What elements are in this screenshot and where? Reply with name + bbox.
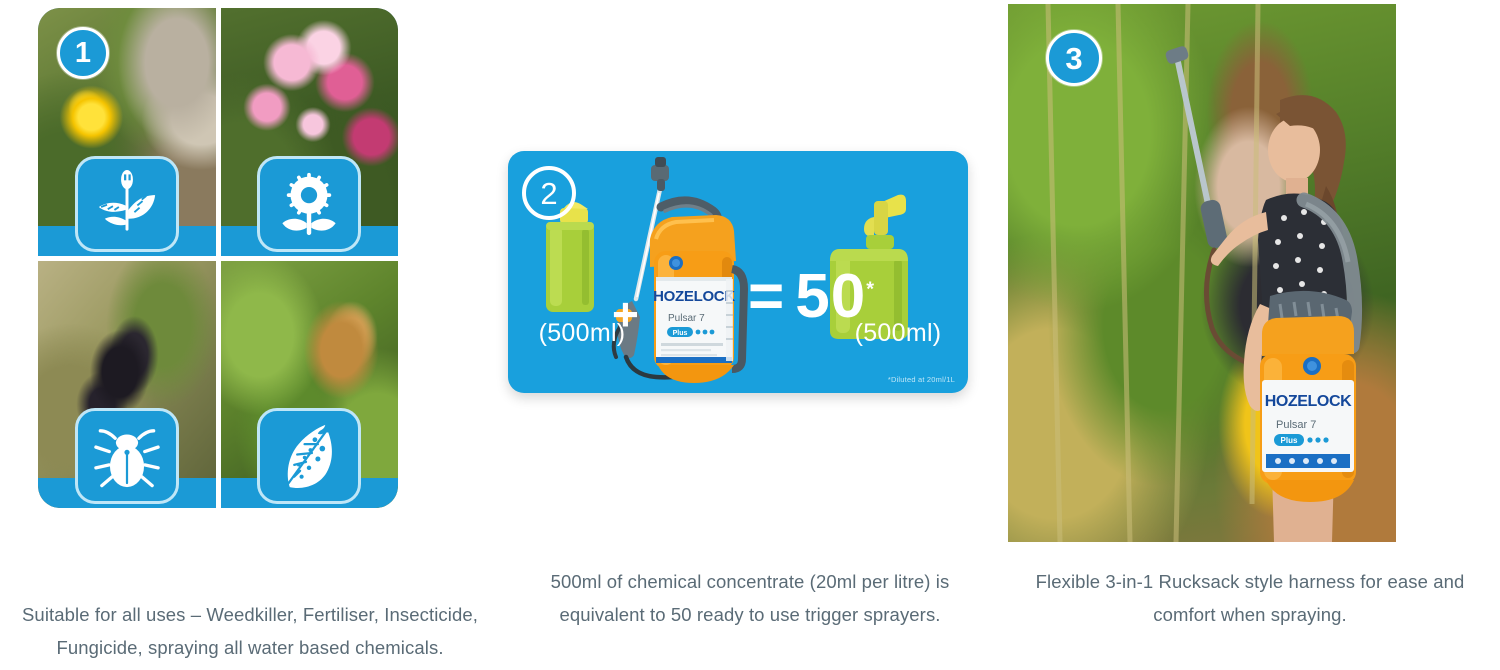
beetle-icon-badge	[75, 408, 179, 504]
product-feature-board: 1 Suitable for all uses – Weedkiller, Fe…	[0, 0, 1500, 670]
leaf-icon-badge	[257, 408, 361, 504]
caption-panel-1: Suitable for all uses – Weedkiller, Fert…	[0, 598, 500, 664]
step-number-badge-3: 3	[1046, 30, 1102, 86]
feature-column-1: 1 Suitable for all uses – Weedkiller, Fe…	[0, 0, 500, 670]
dilution-footnote: *Diluted at 20ml/1L	[888, 375, 955, 384]
caption-panel-3: Flexible 3-in-1 Rucksack style harness f…	[1000, 565, 1500, 631]
flower-icon	[272, 167, 346, 241]
worn-sprayer-product: HOZELOCK Pulsar 7 Plus	[1260, 316, 1356, 502]
equals-operator: =	[748, 262, 785, 331]
step-number-badge-2: 2	[522, 166, 576, 220]
grid-cell-fertiliser	[221, 8, 399, 256]
svg-text:Plus: Plus	[1281, 436, 1298, 445]
dilution-equation-panel: 2	[508, 151, 968, 393]
product-brand-text: HOZELOCK	[653, 288, 735, 305]
feature-column-2: 2	[500, 0, 1000, 670]
photo-grid	[38, 8, 398, 508]
worn-product-model-text: Pulsar 7	[1276, 419, 1316, 431]
uses-photo-grid-panel: 1	[38, 8, 398, 508]
left-volume-label: (500ml)	[522, 319, 642, 348]
weed-icon-badge	[75, 156, 179, 252]
product-model-text: Pulsar 7	[668, 313, 705, 324]
rucksack-harness-photo-panel: HOZELOCK Pulsar 7 Plus	[1008, 4, 1396, 542]
feature-column-3: HOZELOCK Pulsar 7 Plus	[1000, 0, 1500, 670]
step-number-badge-1: 1	[57, 27, 109, 79]
right-volume-label: (500ml)	[838, 319, 958, 348]
leaf-icon	[272, 419, 346, 493]
beetle-icon	[90, 419, 164, 493]
worn-product-brand-text: HOZELOCK	[1265, 393, 1352, 410]
dilution-artwork: HOZELOCK Pulsar 7 Plus	[508, 151, 968, 393]
weed-icon	[90, 167, 164, 241]
grid-cell-fungicide	[221, 261, 399, 509]
caption-panel-2: 500ml of chemical concentrate (20ml per …	[500, 565, 1000, 631]
flower-icon-badge	[257, 156, 361, 252]
result-asterisk: *	[866, 278, 875, 300]
pressure-sprayer-product: HOZELOCK Pulsar 7 Plus	[614, 157, 744, 383]
grid-cell-insecticide	[38, 261, 216, 509]
svg-text:Plus: Plus	[673, 330, 688, 337]
